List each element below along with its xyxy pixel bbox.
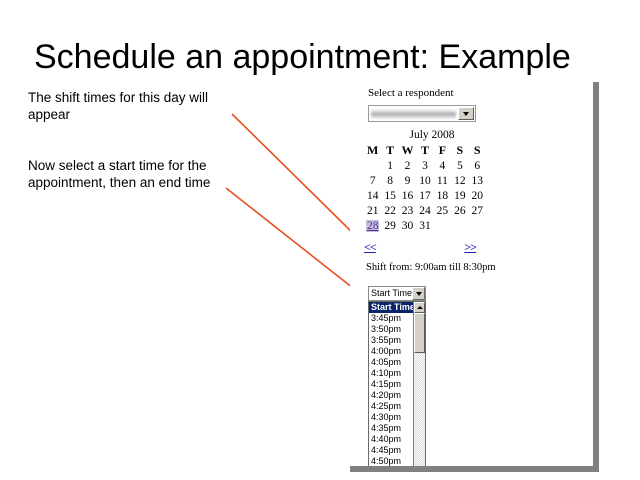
calendar-weekday-row: M T W T F S S (364, 143, 486, 158)
calendar-weekday: W (399, 143, 416, 158)
calendar-day[interactable]: 17 (416, 188, 433, 203)
arrow-to-start-time-dropdown (226, 188, 358, 292)
calendar-day[interactable]: 19 (451, 188, 468, 203)
calendar-day[interactable]: 4 (434, 158, 451, 173)
calendar-day[interactable]: 7 (364, 173, 381, 188)
start-time-option[interactable]: 4:45pm (369, 445, 413, 456)
start-time-option[interactable]: 4:10pm (369, 368, 413, 379)
start-time-option[interactable]: 4:00pm (369, 346, 413, 357)
calendar-day[interactable]: 10 (416, 173, 433, 188)
calendar-day[interactable]: 29 (381, 218, 398, 233)
calendar-day[interactable]: 22 (381, 203, 398, 218)
calendar-day[interactable]: 31 (416, 218, 433, 233)
calendar-day[interactable]: 26 (451, 203, 468, 218)
calendar-day[interactable]: 21 (364, 203, 381, 218)
scrollbar-track[interactable] (414, 353, 425, 472)
start-time-option[interactable]: 4:50pm (369, 456, 413, 467)
calendar-day[interactable]: 24 (416, 203, 433, 218)
page-title: Schedule an appointment: Example (34, 38, 571, 77)
calendar-day[interactable]: 25 (434, 203, 451, 218)
calendar-day[interactable]: 3 (416, 158, 433, 173)
start-time-select[interactable]: Start Time (368, 286, 426, 301)
calendar-day[interactable]: 11 (434, 173, 451, 188)
calendar-week-row: 28 29 30 31 (364, 218, 486, 233)
calendar-day[interactable]: 16 (399, 188, 416, 203)
start-time-option[interactable]: 3:50pm (369, 324, 413, 335)
chevron-down-glyph (416, 292, 422, 296)
calendar-day[interactable]: 18 (434, 188, 451, 203)
start-time-selected-value: Start Time (369, 287, 412, 300)
browser-content-panel: Select a respondent July 2008 M T W T F … (350, 82, 599, 472)
calendar-weekday: S (469, 143, 486, 158)
calendar-widget: July 2008 M T W T F S S (364, 129, 486, 233)
triangle-up-glyph (417, 306, 423, 309)
calendar-day[interactable]: 15 (381, 188, 398, 203)
calendar-day[interactable]: 30 (399, 218, 416, 233)
start-time-option[interactable]: 3:55pm (369, 335, 413, 346)
calendar-grid: M T W T F S S 1 2 3 4 (364, 143, 486, 233)
arrow-to-calendar-nav (232, 114, 364, 244)
calendar-week-row: 14 15 16 17 18 19 20 (364, 188, 486, 203)
calendar-day (364, 158, 381, 173)
respondent-select[interactable] (368, 105, 476, 122)
respondent-label: Select a respondent (368, 87, 454, 99)
calendar-week-row: 7 8 9 10 11 12 13 (364, 173, 486, 188)
calendar-week-row: 1 2 3 4 5 6 (364, 158, 486, 173)
calendar-day (469, 218, 486, 233)
start-time-option[interactable]: 4:55pm (369, 467, 413, 472)
calendar-next-month-link[interactable]: >> (464, 240, 476, 255)
calendar-day[interactable]: 14 (364, 188, 381, 203)
start-time-option[interactable]: 4:25pm (369, 401, 413, 412)
start-time-option[interactable]: 4:40pm (369, 434, 413, 445)
annotation-text-shift-times: The shift times for this day will appear (28, 90, 243, 124)
triangle-up-icon[interactable] (414, 302, 425, 313)
start-time-option[interactable]: 4:30pm (369, 412, 413, 423)
chevron-down-glyph (463, 112, 469, 116)
calendar-day[interactable]: 1 (381, 158, 398, 173)
calendar-navigation: << >> (364, 240, 476, 255)
calendar-day[interactable]: 2 (399, 158, 416, 173)
start-time-option[interactable]: 4:35pm (369, 423, 413, 434)
calendar-weekday: T (381, 143, 398, 158)
calendar-day[interactable]: 27 (469, 203, 486, 218)
start-time-option[interactable]: 4:15pm (369, 379, 413, 390)
calendar-day (434, 218, 451, 233)
respondent-selected-value (371, 108, 456, 119)
calendar-weekday: F (434, 143, 451, 158)
calendar-week-row: 21 22 23 24 25 26 27 (364, 203, 486, 218)
calendar-day-selected[interactable]: 28 (364, 218, 381, 233)
chevron-down-icon[interactable] (458, 107, 474, 120)
start-time-option[interactable]: 3:45pm (369, 313, 413, 324)
dropdown-scrollbar[interactable] (413, 302, 425, 472)
calendar-day[interactable]: 6 (469, 158, 486, 173)
calendar-weekday: S (451, 143, 468, 158)
chevron-down-icon[interactable] (412, 287, 425, 300)
start-time-option-container: Start Time3:45pm3:50pm3:55pm4:00pm4:05pm… (369, 302, 413, 472)
annotation-text-select-start-time: Now select a start time for the appointm… (28, 158, 243, 192)
calendar-day (451, 218, 468, 233)
calendar-weekday: T (416, 143, 433, 158)
start-time-option[interactable]: 4:05pm (369, 357, 413, 368)
calendar-day[interactable]: 23 (399, 203, 416, 218)
start-time-option-selected[interactable]: Start Time (369, 302, 413, 313)
calendar-day[interactable]: 9 (399, 173, 416, 188)
scrollbar-thumb[interactable] (414, 313, 425, 353)
calendar-month-label: July 2008 (364, 129, 486, 141)
calendar-day[interactable]: 20 (469, 188, 486, 203)
start-time-option[interactable]: 4:20pm (369, 390, 413, 401)
calendar-day[interactable]: 8 (381, 173, 398, 188)
calendar-day[interactable]: 13 (469, 173, 486, 188)
calendar-prev-month-link[interactable]: << (364, 240, 376, 255)
shift-hours-text: Shift from: 9:00am till 8:30pm (366, 262, 496, 273)
calendar-day[interactable]: 12 (451, 173, 468, 188)
calendar-weekday: M (364, 143, 381, 158)
start-time-dropdown-list[interactable]: Start Time3:45pm3:50pm3:55pm4:00pm4:05pm… (368, 301, 426, 472)
calendar-day[interactable]: 5 (451, 158, 468, 173)
